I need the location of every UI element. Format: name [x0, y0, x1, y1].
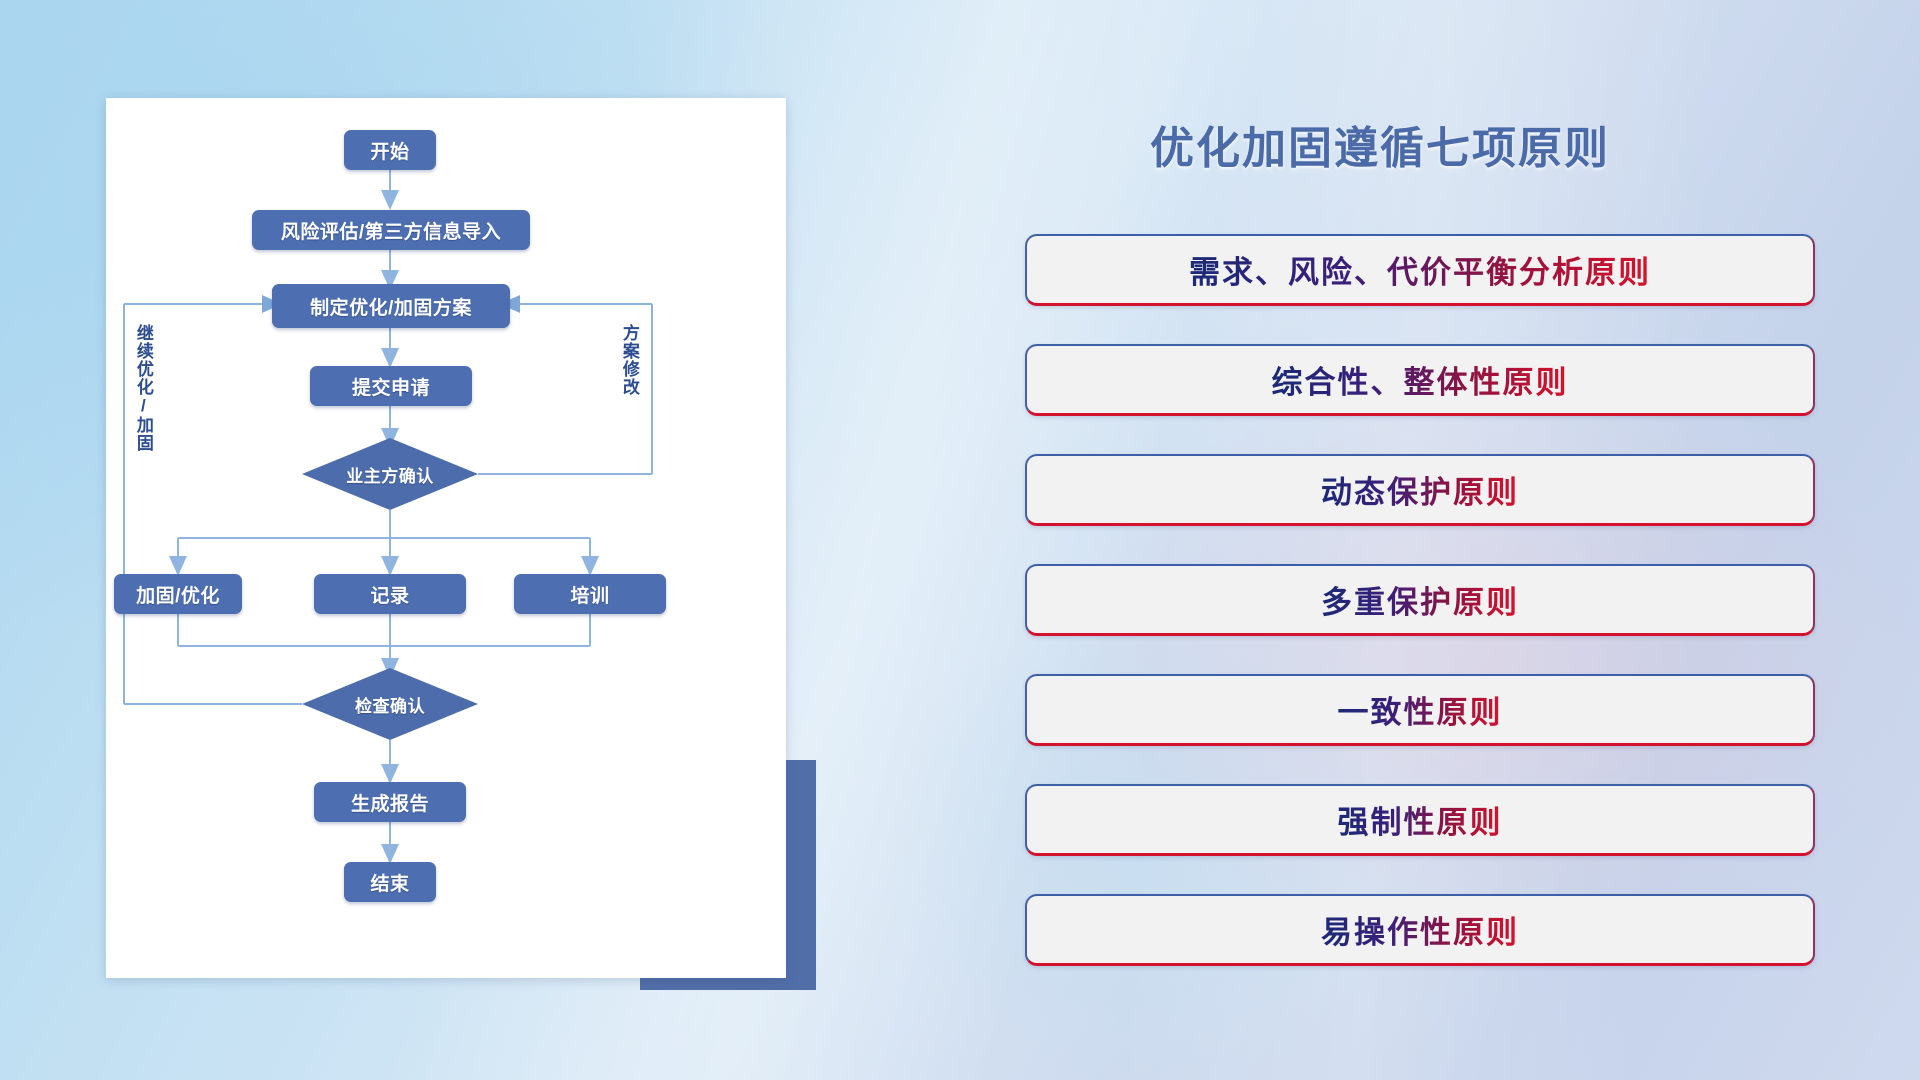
principle-label: 多重保护原则: [1321, 577, 1519, 622]
principle-label: 需求、风险、代价平衡分析原则: [1189, 247, 1651, 292]
principle-label: 综合性、整体性原则: [1272, 357, 1569, 402]
flow-node-start[interactable]: 开始: [344, 130, 436, 170]
flow-node-start-label: 开始: [370, 137, 409, 164]
flow-node-reinforce-optimize-label: 加固/优化: [136, 581, 220, 608]
slide-canvas: 开始 风险评估/第三方信息导入 制定优化/加固方案 提交申请 业主方确认 加固/…: [0, 0, 1920, 1080]
flow-node-training-label: 培训: [570, 581, 609, 608]
principles-list: 需求、风险、代价平衡分析原则 综合性、整体性原则 动态保护原则 多重保护原则 一…: [1025, 234, 1815, 1004]
principle-item[interactable]: 需求、风险、代价平衡分析原则: [1025, 234, 1815, 306]
principle-label: 一致性原则: [1338, 687, 1503, 732]
flow-node-record-label: 记录: [370, 581, 409, 608]
flow-edge-label-right-loop: 方案修改: [620, 324, 638, 396]
flow-node-generate-report[interactable]: 生成报告: [314, 782, 466, 822]
flow-node-make-plan[interactable]: 制定优化/加固方案: [272, 284, 510, 328]
principle-item[interactable]: 综合性、整体性原则: [1025, 344, 1815, 416]
flow-node-owner-confirm[interactable]: 业主方确认: [302, 438, 478, 510]
flow-node-make-plan-label: 制定优化/加固方案: [310, 293, 472, 320]
principle-label: 动态保护原则: [1321, 467, 1519, 512]
flow-node-check-confirm-label: 检查确认: [355, 692, 425, 717]
flow-node-risk-assessment[interactable]: 风险评估/第三方信息导入: [252, 210, 530, 250]
principle-item[interactable]: 易操作性原则: [1025, 894, 1815, 966]
flow-edge-label-left-loop: 继续优化/加固: [134, 324, 152, 452]
panel-title: 优化加固遵循七项原则: [1150, 112, 1610, 176]
flow-node-end[interactable]: 结束: [344, 862, 436, 902]
flow-node-generate-report-label: 生成报告: [351, 789, 429, 816]
principle-item[interactable]: 强制性原则: [1025, 784, 1815, 856]
flow-node-reinforce-optimize[interactable]: 加固/优化: [114, 574, 242, 614]
principle-item[interactable]: 动态保护原则: [1025, 454, 1815, 526]
flowchart-card: 开始 风险评估/第三方信息导入 制定优化/加固方案 提交申请 业主方确认 加固/…: [106, 98, 786, 978]
flow-node-training[interactable]: 培训: [514, 574, 666, 614]
flow-node-risk-assessment-label: 风险评估/第三方信息导入: [281, 217, 501, 244]
flow-node-end-label: 结束: [370, 869, 409, 896]
principle-label: 易操作性原则: [1321, 907, 1519, 952]
flow-node-submit-application[interactable]: 提交申请: [310, 366, 472, 406]
principle-label: 强制性原则: [1338, 797, 1503, 842]
flow-node-check-confirm[interactable]: 检查确认: [302, 668, 478, 740]
flow-node-submit-application-label: 提交申请: [352, 373, 430, 400]
flow-node-record[interactable]: 记录: [314, 574, 466, 614]
principle-item[interactable]: 多重保护原则: [1025, 564, 1815, 636]
principle-item[interactable]: 一致性原则: [1025, 674, 1815, 746]
flow-node-owner-confirm-label: 业主方确认: [346, 462, 434, 487]
